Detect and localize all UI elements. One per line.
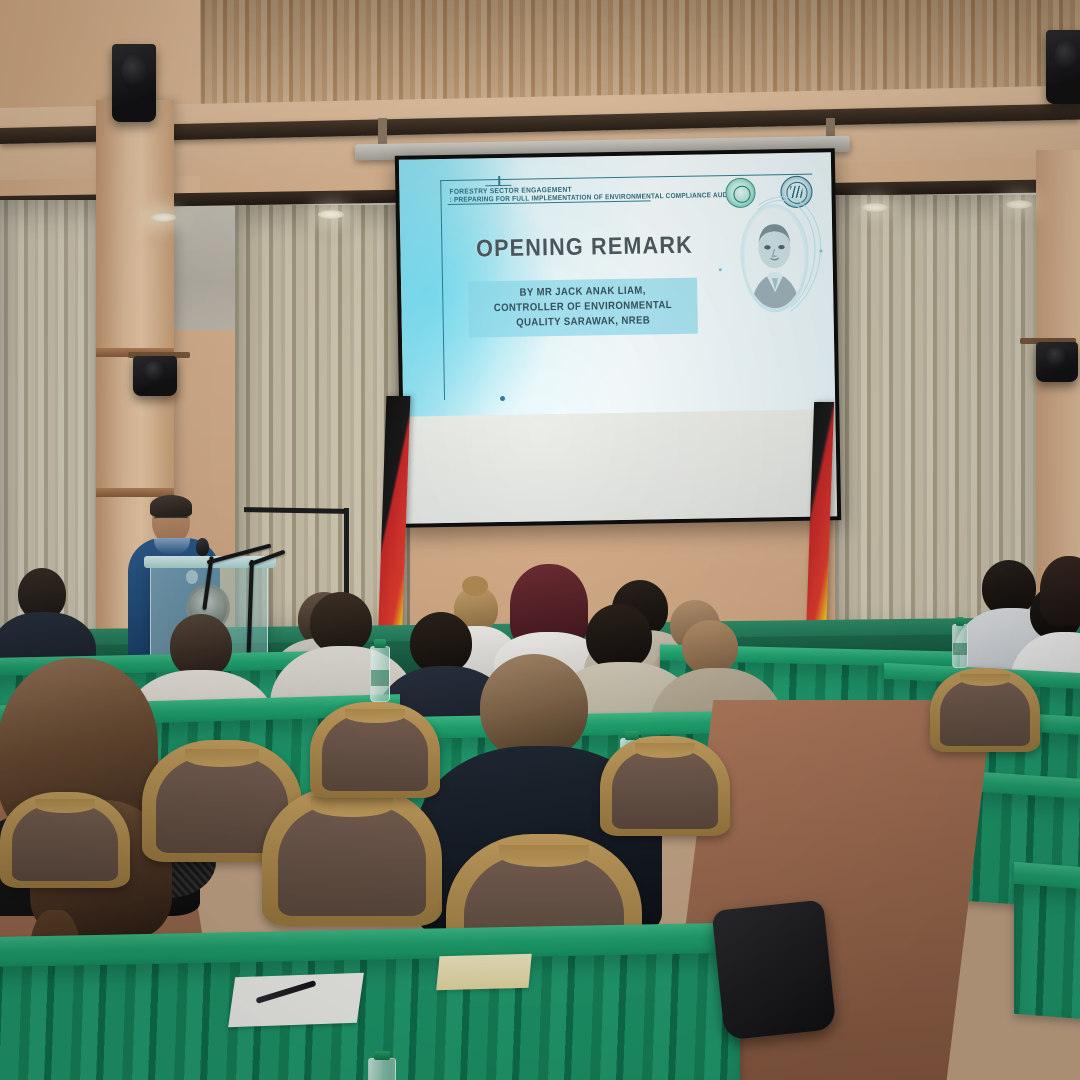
yellow-notepad[interactable] [436,954,532,990]
note-paper[interactable] [228,973,364,1027]
screen-surface: FORESTRY SECTOR ENGAGEMENT : PREPARING F… [399,152,837,523]
chair-crest-notch [635,743,695,758]
ceiling-light-3 [862,203,888,212]
person-hair-bun [462,576,488,596]
black-backpack [712,900,837,1041]
chair-pad [612,749,719,829]
bottle-label [953,643,967,656]
person-hair-long [1040,556,1080,626]
slide-footer [452,375,471,392]
ceiling-light-1 [150,213,176,222]
chair-pad [322,714,429,791]
screen-blank-area [403,409,837,524]
water-bottle-2 [952,624,968,668]
wall-speaker-upper-left [112,44,156,122]
wall-speaker-mid-left [133,356,177,396]
chair-pad [12,804,119,881]
slide-tick-bottom [500,395,505,400]
bottle-cap [374,1051,391,1060]
bottle-cap [374,639,386,648]
chair-crest-notch [345,709,405,723]
table-right-4-skirt [1014,884,1080,1027]
presenter-hair [150,495,192,517]
chair-crest-notch [311,796,394,817]
conference-hall-photo: FORESTRY SECTOR ENGAGEMENT : PREPARING F… [0,0,1080,1080]
bottle-label [371,670,389,686]
person-head [682,620,738,674]
ceiling-light-4 [1006,200,1032,209]
slide-footer-line1 [452,375,471,384]
presentation-slide: FORESTRY SECTOR ENGAGEMENT : PREPARING F… [399,152,835,416]
slide-title: OPENING REMARK [461,231,706,263]
presenter-glasses-icon [154,516,188,523]
bottle-cap [956,617,965,626]
slide-subtitle-line3: QUALITY SARAWAK, NREB [485,313,680,331]
water-bottle-1 [370,646,390,702]
chair-pad [278,804,426,916]
audience-person-right-3 [1040,556,1080,646]
chair-crest-notch [185,749,259,767]
banquet-chair-2[interactable] [262,786,442,926]
screen-bracket-left [378,118,387,144]
ceiling-light-2 [318,210,344,219]
slide-subtitle-box: BY MR JACK ANAK LIAM, CONTROLLER OF ENVI… [468,278,698,338]
speaker-portrait-illustration [740,204,810,313]
projection-screen: FORESTRY SECTOR ENGAGEMENT : PREPARING F… [395,148,841,528]
portrait-dot-1 [820,249,823,252]
microphone-head-1 [196,538,209,556]
slide-tick-top [499,176,501,185]
chair-crest-notch [35,799,95,813]
slide-footer-line2 [452,384,471,393]
wall-speaker-upper-right [1046,30,1080,104]
logo-bars-icon [790,186,802,198]
banquet-chair-6[interactable] [600,736,730,836]
banquet-chair-5[interactable] [310,702,440,798]
chair-pad [940,679,1030,746]
person-head [480,654,588,760]
water-bottle-5[interactable] [368,1058,396,1080]
person-head [310,592,372,654]
wall-speaker-mid-right [1036,342,1078,382]
banquet-chair-7[interactable] [930,668,1040,752]
banquet-chair-8[interactable] [0,792,130,888]
